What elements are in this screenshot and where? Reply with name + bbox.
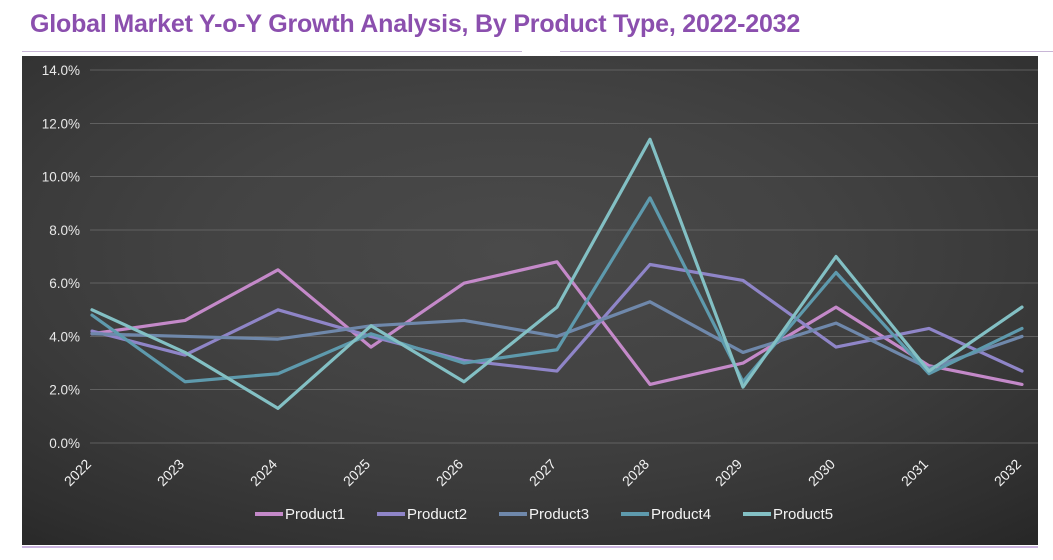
legend-label: Product3 [529,506,589,523]
legend-item[interactable]: Product4 [621,506,711,523]
legend-label: Product4 [651,506,711,523]
title-divider-left [22,51,522,52]
series-lines [92,139,1022,408]
legend-item[interactable]: Product3 [499,506,589,523]
legend-item[interactable]: Product1 [255,506,345,523]
plot-panel: 0.0%2.0%4.0%6.0%8.0%10.0%12.0%14.0% 2022… [22,56,1038,545]
y-axis-tick-label: 4.0% [49,329,80,344]
legend-item[interactable]: Product2 [377,506,467,523]
chart-card: Global Market Y-o-Y Growth Analysis, By … [0,0,1053,560]
series-line-product4 [92,198,1022,382]
y-axis-tick-label: 2.0% [49,383,80,398]
y-axis-tick-label: 8.0% [49,223,80,238]
x-axis-tick-label: 2025 [340,456,373,489]
x-axis-tick-label: 2030 [805,456,838,489]
chart-legend: Product1Product2Product3Product4Product5 [255,506,833,523]
series-line-product2 [92,264,1022,371]
title-divider-right [560,51,1053,52]
y-axis-tick-label: 12.0% [42,116,80,131]
x-axis-tick-label: 2024 [247,456,280,489]
x-axis-tick-label: 2032 [991,456,1024,489]
legend-item[interactable]: Product5 [743,506,833,523]
series-line-product5 [92,139,1022,408]
line-chart: 0.0%2.0%4.0%6.0%8.0%10.0%12.0%14.0% 2022… [22,56,1038,545]
x-axis-tick-label: 2022 [61,456,94,489]
y-axis-labels: 0.0%2.0%4.0%6.0%8.0%10.0%12.0%14.0% [42,63,80,451]
y-axis-tick-label: 0.0% [49,436,80,451]
x-axis-tick-label: 2026 [433,456,466,489]
legend-label: Product2 [407,506,467,523]
x-axis-tick-label: 2028 [619,456,652,489]
x-axis-tick-label: 2029 [712,456,745,489]
gridlines [90,70,1038,443]
legend-label: Product5 [773,506,833,523]
x-axis-tick-label: 2027 [526,456,559,489]
x-axis-tick-label: 2023 [154,456,187,489]
page-title: Global Market Y-o-Y Growth Analysis, By … [30,10,800,39]
x-axis-labels: 2022202320242025202620272028202920302031… [61,456,1024,489]
y-axis-tick-label: 14.0% [42,63,80,78]
y-axis-tick-label: 10.0% [42,170,80,185]
x-axis-tick-label: 2031 [898,456,931,489]
legend-label: Product1 [285,506,345,523]
title-bar: Global Market Y-o-Y Growth Analysis, By … [0,0,1053,52]
y-axis-tick-label: 6.0% [49,276,80,291]
panel-underline [22,546,1038,548]
